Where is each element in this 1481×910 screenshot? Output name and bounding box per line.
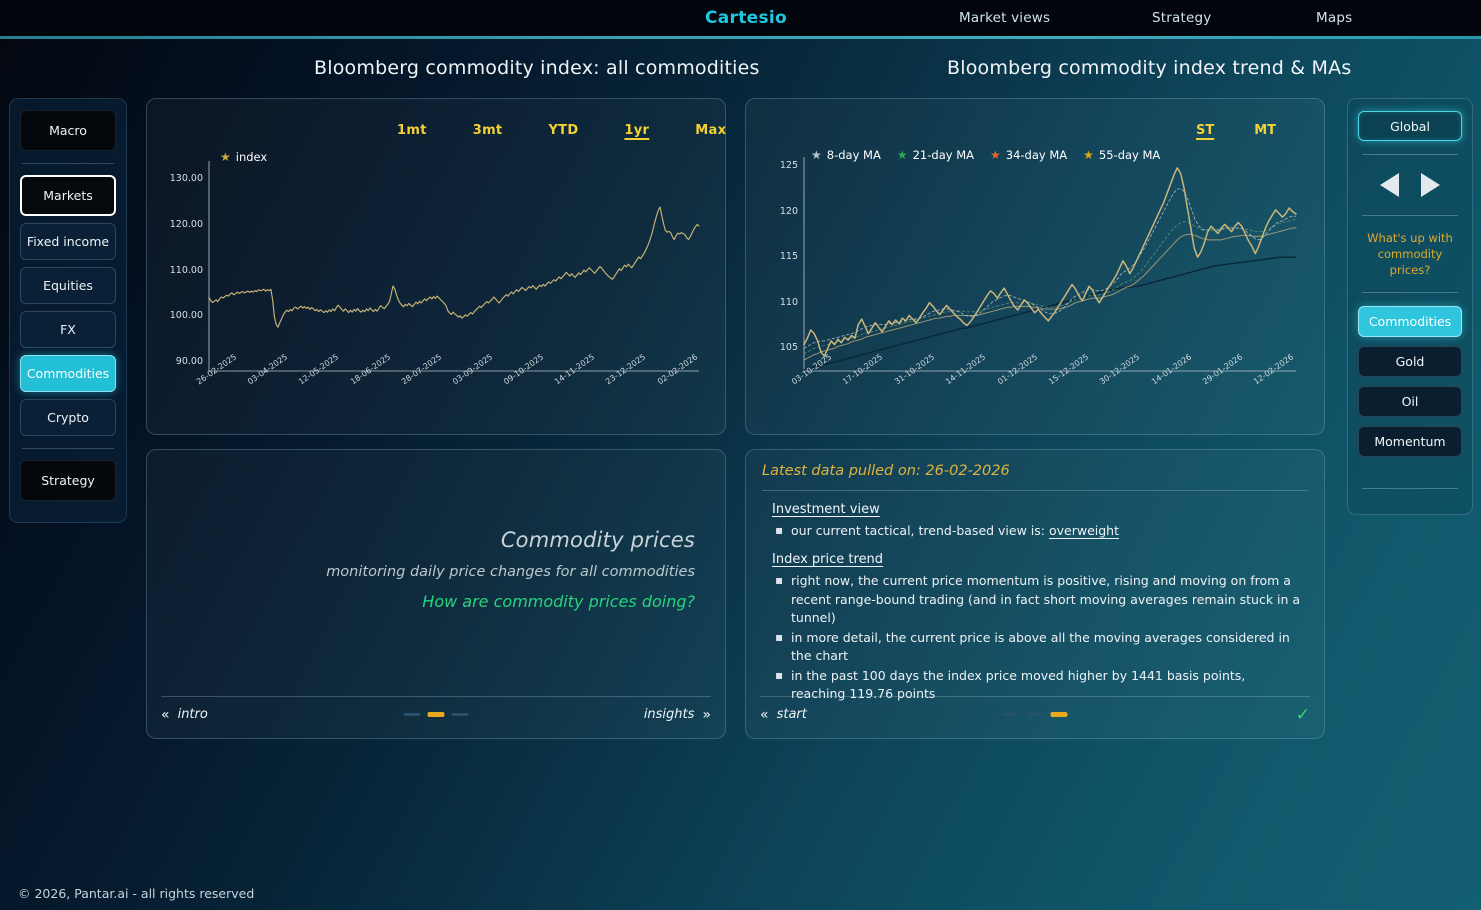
y-axis-tick-label: 90.00 (161, 356, 203, 367)
y-axis-tick-label: 115 (756, 251, 798, 262)
y-axis-tick-label: 110.00 (161, 265, 203, 276)
nav-link-market-views[interactable]: Market views (959, 10, 1050, 26)
right-sidebar-question: What's up with commodity prices? (1358, 229, 1462, 279)
sidebar-item-fx[interactable]: FX (20, 311, 116, 348)
y-axis-tick-label: 110 (756, 297, 798, 308)
right-chart-plot[interactable] (746, 99, 1326, 436)
insights-panel-footer: « start ✓ (760, 696, 1310, 732)
carousel-dot-1[interactable] (404, 713, 421, 716)
sidebar-divider-top (22, 163, 114, 164)
left-chart-panel: 1mt 3mt YTD 1yr Max ★ index 90.00100.001… (146, 98, 726, 435)
y-axis-tick-label: 100.00 (161, 310, 203, 321)
list-item: our current tactical, trend-based view i… (772, 522, 1302, 541)
nav-link-maps[interactable]: Maps (1316, 10, 1352, 26)
index-price-trend-section: Index price trend right now, the current… (772, 552, 1302, 705)
triangle-right-icon[interactable] (1421, 173, 1440, 197)
overview-carousel-dots (404, 712, 469, 717)
sidebar-item-fixed-income[interactable]: Fixed income (20, 223, 116, 260)
topic-button-momentum[interactable]: Momentum (1358, 426, 1462, 457)
latest-data-timestamp: Latest data pulled on: 26-02-2026 (762, 463, 1308, 491)
left-sidebar: Macro Markets Fixed income Equities FX C… (9, 98, 127, 523)
topic-button-gold[interactable]: Gold (1358, 346, 1462, 377)
overview-question: How are commodity prices doing? (326, 592, 695, 611)
sidebar-item-strategy[interactable]: Strategy (20, 460, 116, 501)
sidebar-divider-bottom (22, 448, 114, 449)
index-price-trend-bullets: right now, the current price momentum is… (772, 572, 1302, 704)
chevron-double-right-icon: » (702, 707, 711, 723)
overview-title: Commodity prices (326, 528, 695, 552)
bullet-text: our current tactical, trend-based view i… (791, 523, 1049, 538)
overview-next-button[interactable]: insights » (644, 707, 711, 723)
global-scope-button[interactable]: Global (1358, 111, 1462, 141)
chevron-double-left-icon: « (760, 707, 769, 723)
overview-text-block: Commodity prices monitoring daily price … (326, 528, 695, 611)
carousel-arrows (1358, 168, 1462, 202)
sidebar-item-commodities[interactable]: Commodities (20, 355, 116, 392)
topic-button-commodities[interactable]: Commodities (1358, 306, 1462, 337)
y-axis-tick-label: 120 (756, 206, 798, 217)
overview-prev-button[interactable]: « intro (161, 707, 208, 723)
right-sidebar-divider-2 (1362, 215, 1458, 216)
list-item: right now, the current price momentum is… (772, 572, 1302, 628)
insights-carousel-dots (1003, 712, 1068, 717)
sidebar-item-crypto[interactable]: Crypto (20, 399, 116, 436)
overview-subtitle: monitoring daily price changes for all c… (326, 564, 695, 580)
overview-next-label: insights (644, 707, 695, 722)
sidebar-item-macro[interactable]: Macro (20, 110, 116, 151)
triangle-left-icon[interactable] (1380, 173, 1399, 197)
carousel-dot-3[interactable] (452, 713, 469, 716)
overview-panel-footer: « intro insights » (161, 696, 711, 732)
left-chart-plot[interactable] (147, 99, 727, 436)
bullet-emphasis: overweight (1049, 523, 1119, 538)
top-navigation-bar: Cartesio Market views Strategy Maps (0, 0, 1481, 36)
overview-prev-label: intro (178, 707, 208, 722)
y-axis-tick-label: 120.00 (161, 219, 203, 230)
investment-view-heading: Investment view (772, 502, 1302, 517)
right-chart-panel: ST MT ★ 8-day MA ★ 21-day MA ★ 34-day MA… (745, 98, 1325, 435)
carousel-dot-2[interactable] (428, 712, 445, 717)
right-sidebar-divider-4 (1362, 488, 1458, 489)
investment-view-bullets: our current tactical, trend-based view i… (772, 522, 1302, 541)
app-brand-logo[interactable]: Cartesio (705, 8, 787, 28)
investment-view-section: Investment view our current tactical, tr… (772, 502, 1302, 542)
nav-underline-divider (0, 36, 1481, 39)
right-sidebar: Global What's up with commodity prices? … (1347, 98, 1473, 515)
insights-prev-button[interactable]: « start (760, 707, 807, 723)
index-price-trend-heading: Index price trend (772, 552, 1302, 567)
right-sidebar-divider-3 (1362, 292, 1458, 293)
right-sidebar-divider-1 (1362, 154, 1458, 155)
nav-link-strategy[interactable]: Strategy (1152, 10, 1211, 26)
insights-prev-label: start (777, 707, 807, 722)
right-chart-title: Bloomberg commodity index trend & MAs (947, 57, 1351, 79)
topic-button-oil[interactable]: Oil (1358, 386, 1462, 417)
check-icon[interactable]: ✓ (1296, 705, 1310, 725)
y-axis-tick-label: 105 (756, 342, 798, 353)
insights-panel: Latest data pulled on: 26-02-2026 Invest… (745, 449, 1325, 739)
sidebar-item-markets[interactable]: Markets (20, 175, 116, 216)
left-chart-title: Bloomberg commodity index: all commoditi… (314, 57, 760, 79)
overview-panel: Commodity prices monitoring daily price … (146, 449, 726, 739)
list-item: in more detail, the current price is abo… (772, 629, 1302, 666)
carousel-dot-2[interactable] (1027, 713, 1044, 716)
carousel-dot-3[interactable] (1051, 712, 1068, 717)
y-axis-tick-label: 125 (756, 160, 798, 171)
y-axis-tick-label: 130.00 (161, 173, 203, 184)
chevron-double-left-icon: « (161, 707, 170, 723)
carousel-dot-1[interactable] (1003, 713, 1020, 716)
sidebar-item-equities[interactable]: Equities (20, 267, 116, 304)
copyright-notice: © 2026, Pantar.ai - all rights reserved (18, 886, 254, 901)
